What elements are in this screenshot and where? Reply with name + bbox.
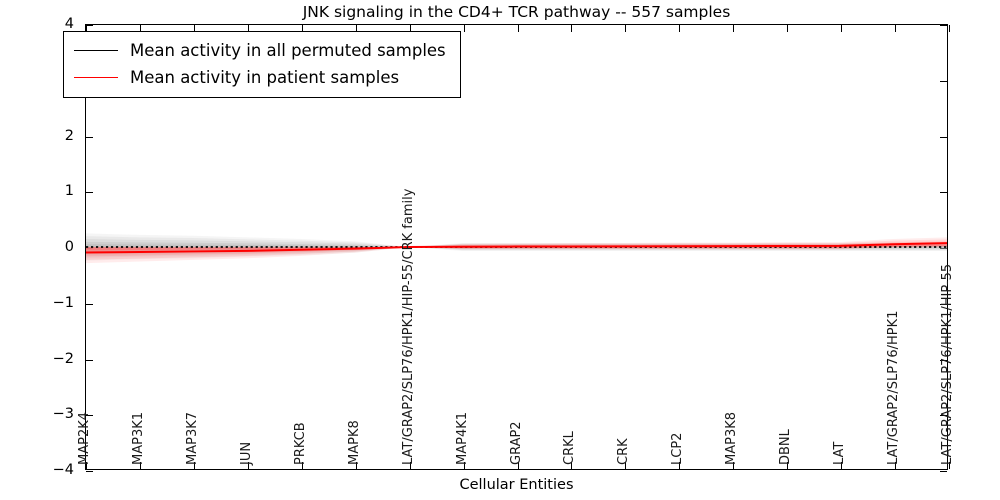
x-tick-label: MAP2K4 — [78, 412, 91, 465]
x-tick-label: LAT/GRAP2/SLP76/HPK1/HIP-55 — [941, 264, 954, 465]
y-tick-label: 1 — [14, 183, 74, 199]
x-tick-label: MAPK8 — [348, 420, 361, 465]
legend-swatch-permuted — [74, 50, 118, 51]
figure: JNK signaling in the CD4+ TCR pathway --… — [0, 0, 1000, 500]
x-axis-label: Cellular Entities — [85, 477, 948, 493]
legend-swatch-patient — [74, 77, 118, 78]
x-tick-label: LAT/GRAP2/SLP76/HPK1 — [887, 311, 900, 465]
legend: Mean activity in all permuted samples Me… — [63, 31, 461, 98]
y-tick-label: −4 — [14, 462, 74, 478]
x-tick-label: GRAP2 — [510, 421, 523, 465]
y-tick-label: −1 — [14, 295, 74, 311]
x-tick-label: MAP3K8 — [725, 412, 738, 465]
x-tick-label: PRKCB — [294, 422, 307, 465]
legend-entry: Mean activity in patient samples — [74, 64, 446, 91]
x-tick-label: DBNL — [779, 429, 792, 465]
y-tick-label: 2 — [14, 128, 74, 144]
x-tick-label: CRKL — [563, 431, 576, 465]
x-tick-label: LAT — [833, 442, 846, 465]
chart-title: JNK signaling in the CD4+ TCR pathway --… — [85, 2, 948, 22]
legend-label-permuted: Mean activity in all permuted samples — [130, 41, 446, 60]
x-tick-label: JUN — [240, 442, 253, 465]
y-tick-label: 4 — [14, 16, 74, 32]
x-tick-label: LAT/GRAP2/SLP76/HPK1/HIP-55/CRK family — [402, 189, 415, 465]
legend-label-patient: Mean activity in patient samples — [130, 68, 399, 87]
y-tick-label: −2 — [14, 351, 74, 367]
x-tick-label: LCP2 — [671, 433, 684, 465]
y-tick-mark — [86, 471, 93, 472]
y-tick-mark — [940, 471, 947, 472]
y-tick-label: 0 — [14, 239, 74, 255]
legend-entry: Mean activity in all permuted samples — [74, 37, 446, 64]
x-tick-label: CRK — [617, 438, 630, 465]
x-tick-label: MAP3K1 — [132, 412, 145, 465]
x-tick-mark — [949, 25, 950, 32]
x-tick-label: MAP3K7 — [186, 412, 199, 465]
x-tick-label: MAP4K1 — [456, 412, 469, 465]
y-tick-label: −3 — [14, 406, 74, 422]
